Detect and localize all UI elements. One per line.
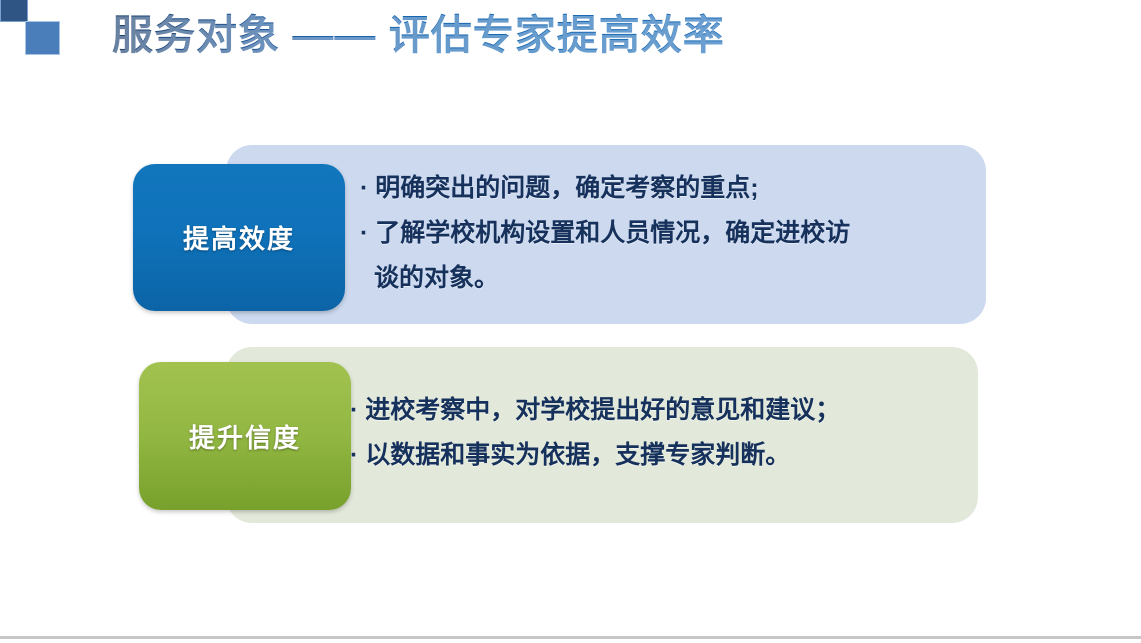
category-tab-credibility[interactable]: 提升信度 bbox=[139, 362, 351, 510]
decorative-square-dark bbox=[0, 0, 28, 22]
bullet-line-continuation: 谈的对象。 bbox=[360, 256, 960, 301]
decorative-square-light bbox=[25, 21, 60, 55]
decorative-squares bbox=[0, 0, 110, 80]
bottom-divider bbox=[0, 636, 1141, 639]
slide-canvas: 服务对象 —— 评估专家提高效率 提高效度 · 明确突出的问题，确定考察的重点;… bbox=[0, 0, 1141, 643]
bullet-line: · 明确突出的问题，确定考察的重点; bbox=[360, 166, 960, 211]
category-tab-effectiveness[interactable]: 提高效度 bbox=[133, 164, 345, 311]
bullet-line: · 以数据和事实为依据，支撑专家判断。 bbox=[350, 433, 970, 478]
bullet-line: · 进校考察中，对学校提出好的意见和建议； bbox=[350, 388, 970, 433]
content-text-green: · 进校考察中，对学校提出好的意见和建议； · 以数据和事实为依据，支撑专家判断… bbox=[350, 388, 970, 478]
page-title: 服务对象 —— 评估专家提高效率 bbox=[112, 10, 725, 61]
category-tab-label: 提高效度 bbox=[183, 219, 295, 256]
bullet-line: · 了解学校机构设置和人员情况，确定进校访 bbox=[360, 211, 960, 256]
category-tab-label: 提升信度 bbox=[189, 418, 301, 455]
content-text-blue: · 明确突出的问题，确定考察的重点; · 了解学校机构设置和人员情况，确定进校访… bbox=[360, 166, 960, 301]
